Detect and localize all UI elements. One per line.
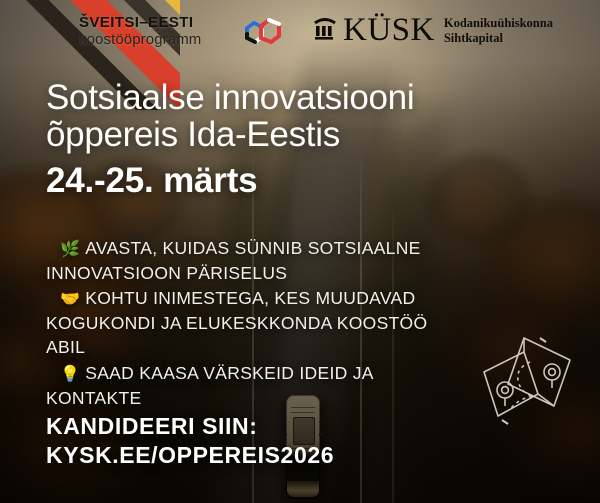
list-item-text: SAAD KAASA VÄRSKEID IDEID JA KONTAKTE — [46, 363, 373, 408]
list-item-text: KOHTU INIMESTEGA, KES MUUDAVAD KOGUKONDI… — [46, 288, 427, 357]
logo-bar: ŠVEITSI–EESTI koostööprogramm — [0, 0, 600, 68]
list-item-text: AVASTA, KUIDAS SÜNNIB SOTSIAALNE INNOVAT… — [46, 238, 421, 283]
kusk-wordmark: KÜSK — [343, 14, 435, 47]
lightbulb-icon: 💡 — [60, 366, 80, 383]
list-item: 🌿AVASTA, KUIDAS SÜNNIB SOTSIAALNE INNOVA… — [46, 236, 446, 285]
kusk-subline: Kodanikuühiskonna Sihtkapital — [444, 16, 553, 46]
list-item: 🤝KOHTU INIMESTEGA, KES MUUDAVAD KOGUKOND… — [46, 286, 446, 359]
poster: ŠVEITSI–EESTI koostööprogramm — [0, 0, 600, 503]
benefit-list: 🌿AVASTA, KUIDAS SÜNNIB SOTSIAALNE INNOVA… — [46, 236, 446, 411]
headline-line-1: Sotsiaalse innovatsiooni — [46, 79, 546, 116]
cta-url[interactable]: KYSK.EE/OPPEREIS2026 — [46, 441, 334, 470]
cta-line-1: KANDIDEERI SIIN: — [46, 412, 334, 441]
herb-icon: 🌿 — [60, 241, 80, 258]
list-item: 💡SAAD KAASA VÄRSKEID IDEID JA KONTAKTE — [46, 361, 446, 410]
sveitsi-subtitle: koostööprogramm — [79, 31, 201, 48]
headline-line-2: õppereis Ida-Eestis — [46, 116, 546, 153]
logo-kusk: KÜSK Kodanikuühiskonna Sihtkapital — [312, 14, 553, 47]
event-date: 24.-25. märts — [46, 162, 257, 201]
kusk-subline-2: Sihtkapital — [444, 31, 553, 46]
folded-map-with-pins-icon — [474, 332, 592, 445]
kusk-subline-1: Kodanikuühiskonna — [444, 16, 553, 31]
handshake-icon: 🤝 — [60, 291, 80, 308]
headline: Sotsiaalse innovatsiooni õppereis Ida-Ee… — [46, 79, 546, 154]
sveitsi-title: ŠVEITSI–EESTI — [79, 15, 201, 31]
call-to-action[interactable]: KANDIDEERI SIIN: KYSK.EE/OPPEREIS2026 — [46, 412, 334, 470]
logo-sveitsi-eesti: ŠVEITSI–EESTI koostööprogramm — [79, 15, 201, 48]
interlocking-hexagons-icon — [233, 12, 289, 61]
bank-building-icon — [312, 15, 338, 46]
